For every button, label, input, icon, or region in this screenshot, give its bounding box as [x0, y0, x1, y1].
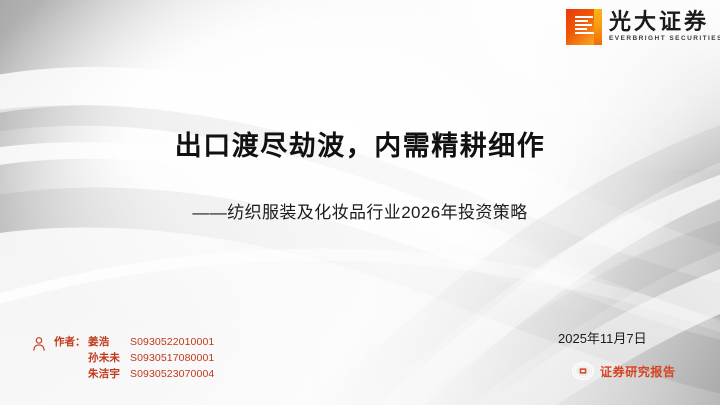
report-badge: 证券研究报告 — [572, 360, 676, 382]
logo-name-cn: 光大证券 — [609, 10, 720, 35]
slide-date: 2025年11月7日 — [558, 328, 647, 347]
author-code: S0930517080001 — [130, 350, 214, 366]
author-list: 作者： 姜浩 S0930522010001 孙未未 S0930517080001… — [54, 334, 214, 382]
logo-name-en: EVERBRIGHT SECURITIES — [609, 36, 720, 43]
seal-icon — [572, 360, 594, 382]
slide-title: 出口渡尽劫波，内需精耕细作 — [0, 124, 720, 163]
everbright-e-mark-icon — [566, 9, 602, 45]
author-label: 作者： — [54, 334, 88, 350]
logo-wordmark: 光大证券 EVERBRIGHT SECURITIES — [609, 9, 720, 42]
title-slide: 光大证券 EVERBRIGHT SECURITIES 出口渡尽劫波，内需精耕细作… — [0, 0, 720, 405]
author-code: S0930523070004 — [130, 366, 214, 382]
report-badge-text: 证券研究报告 — [600, 363, 676, 380]
company-logo: 光大证券 EVERBRIGHT SECURITIES — [566, 9, 720, 45]
author-name: 姜浩 — [88, 334, 130, 350]
author-block: 作者： 姜浩 S0930522010001 孙未未 S0930517080001… — [32, 334, 214, 382]
author-row: 作者： 姜浩 S0930522010001 — [54, 334, 214, 350]
slide-subtitle: ——纺织服装及化妆品行业2026年投资策略 — [0, 198, 720, 223]
author-row: 朱洁宇 S0930523070004 — [54, 366, 214, 382]
author-name: 朱洁宇 — [88, 366, 130, 382]
author-name: 孙未未 — [88, 350, 130, 366]
author-code: S0930522010001 — [130, 334, 214, 350]
person-icon — [32, 336, 46, 351]
author-row: 孙未未 S0930517080001 — [54, 350, 214, 366]
